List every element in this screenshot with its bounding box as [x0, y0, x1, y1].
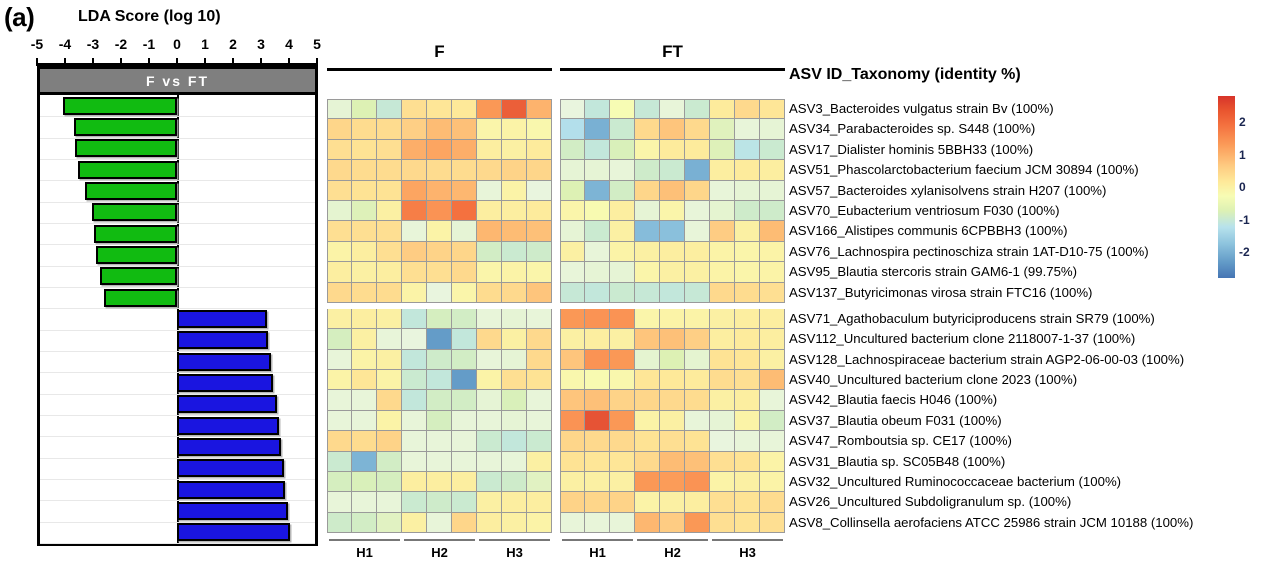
heatmap-cell [635, 492, 660, 512]
heatmap-cell [427, 119, 452, 139]
lda-bar-chart: F vs FT [37, 66, 318, 546]
heatmap-cell [610, 370, 635, 390]
lda-bar [177, 481, 285, 499]
taxonomy-item: ASV42_Blautia faecis H046 (100%) [789, 390, 1193, 410]
heatmap-cell [427, 411, 452, 431]
heatmap-group-rule [327, 68, 552, 71]
heatmap-cell [760, 283, 785, 303]
heatmap-cell [377, 262, 402, 282]
lda-axis-tick-mark [260, 58, 262, 66]
heatmap-cell [502, 221, 527, 241]
heatmap-cell [402, 472, 427, 492]
heatmap-subgroup-rule [562, 539, 633, 541]
taxonomy-item: ASV17_Dialister hominis 5BBH33 (100%) [789, 140, 1193, 160]
heatmap-cell [427, 492, 452, 512]
heatmap-cell [685, 492, 710, 512]
heatmap-cell [352, 309, 377, 329]
heatmap-cell [327, 350, 352, 370]
heatmap-cell [660, 242, 685, 262]
heatmap-cell [452, 329, 477, 349]
heatmap-cell [377, 492, 402, 512]
heatmap-cell [502, 390, 527, 410]
heatmap-subgroup-label-h1: H1 [327, 545, 402, 560]
heatmap-row [560, 492, 785, 512]
heatmap-row [560, 140, 785, 160]
heatmap-row [327, 411, 552, 431]
heatmap-cell [610, 492, 635, 512]
heatmap-cell [452, 262, 477, 282]
heatmap-cell [402, 390, 427, 410]
heatmap-cell [735, 242, 760, 262]
heatmap-row [327, 181, 552, 201]
lda-axis-tick-mark [232, 58, 234, 66]
heatmap-row [560, 431, 785, 451]
heatmap-cell [635, 221, 660, 241]
heatmap-row [327, 160, 552, 180]
heatmap-cell [585, 411, 610, 431]
heatmap-cell [760, 452, 785, 472]
heatmap-cell [560, 309, 585, 329]
lda-bar [177, 374, 273, 392]
heatmap-cell [560, 390, 585, 410]
heatmap-cell [527, 472, 552, 492]
heatmap-cell [685, 262, 710, 282]
heatmap-cell [610, 472, 635, 492]
heatmap-subgroup-rule [329, 539, 400, 541]
heatmap-cell [327, 140, 352, 160]
heatmap-cell [527, 140, 552, 160]
heatmap-row [560, 262, 785, 282]
heatmap-cell [502, 119, 527, 139]
heatmap-cell [502, 452, 527, 472]
heatmap-cell [710, 452, 735, 472]
heatmap-cell [585, 221, 610, 241]
heatmap-cell [585, 262, 610, 282]
heatmap-cell [660, 513, 685, 533]
heatmap-cell [560, 411, 585, 431]
heatmap-cell [660, 99, 685, 119]
heatmap-row [327, 242, 552, 262]
heatmap-cell [685, 242, 710, 262]
heatmap-cell [377, 431, 402, 451]
heatmap-cell [477, 513, 502, 533]
lda-axis-tick-mark [148, 58, 150, 66]
heatmap-cell [735, 221, 760, 241]
lda-bar [104, 289, 177, 307]
heatmap-cell [527, 492, 552, 512]
taxonomy-item: ASV128_Lachnospiraceae bacterium strain … [789, 350, 1193, 370]
heatmap-cell [585, 452, 610, 472]
heatmap-cell [452, 472, 477, 492]
lda-comparison-header: F vs FT [40, 69, 315, 95]
heatmap-cell [560, 119, 585, 139]
heatmap-cell [710, 309, 735, 329]
heatmap-cell [427, 431, 452, 451]
heatmap-cell [660, 411, 685, 431]
lda-axis-tick-label: 0 [173, 36, 181, 52]
heatmap-cell [452, 492, 477, 512]
heatmap-row [327, 262, 552, 282]
heatmap-subgroup-label-h1: H1 [560, 545, 635, 560]
lda-gridline [40, 202, 315, 203]
heatmap-cell [635, 283, 660, 303]
heatmap-cell [402, 350, 427, 370]
heatmap-cell [502, 283, 527, 303]
heatmap-cell [452, 119, 477, 139]
taxonomy-item: ASV26_Uncultured Subdoligranulum sp. (10… [789, 492, 1193, 512]
heatmap-cell [610, 283, 635, 303]
heatmap-cell [377, 99, 402, 119]
heatmap-cell [452, 309, 477, 329]
heatmap-cell [327, 262, 352, 282]
heatmap-cell [735, 431, 760, 451]
heatmap-cell [352, 452, 377, 472]
heatmap-cell [427, 160, 452, 180]
heatmap-cell [477, 201, 502, 221]
heatmap-cell [710, 242, 735, 262]
heatmap-cell [402, 242, 427, 262]
heatmap-cell [735, 99, 760, 119]
lda-bar [75, 139, 177, 157]
lda-bar [177, 417, 279, 435]
heatmap-cell [585, 350, 610, 370]
colorbar-tick-label: -2 [1239, 245, 1250, 259]
heatmap-cell [685, 201, 710, 221]
heatmap-cell [635, 452, 660, 472]
heatmap-cell [452, 181, 477, 201]
heatmap-cell [477, 119, 502, 139]
heatmap-cell [735, 492, 760, 512]
heatmap-cell [502, 201, 527, 221]
heatmap-row [327, 329, 552, 349]
heatmap-cell [352, 513, 377, 533]
heatmap-cell [527, 99, 552, 119]
heatmap-cell [760, 140, 785, 160]
heatmap-row [560, 242, 785, 262]
heatmap-cell [427, 242, 452, 262]
heatmap-cell [585, 390, 610, 410]
heatmap-cell [635, 242, 660, 262]
heatmap-cell [377, 472, 402, 492]
heatmap-cell [585, 309, 610, 329]
heatmap-cell [352, 140, 377, 160]
lda-axis-tick-mark [204, 58, 206, 66]
heatmap-cell [502, 472, 527, 492]
heatmap-cell [710, 350, 735, 370]
heatmap-subgroup-label-h3: H3 [477, 545, 552, 560]
heatmap-cell [635, 350, 660, 370]
heatmap-cell [327, 472, 352, 492]
lda-axis-tick-label: -1 [143, 36, 155, 52]
heatmap-cell [610, 262, 635, 282]
heatmap-row [327, 283, 552, 303]
heatmap-cell [402, 221, 427, 241]
heatmap-cell [427, 262, 452, 282]
heatmap-cell [377, 283, 402, 303]
heatmap-cell [710, 160, 735, 180]
lda-bar [177, 502, 288, 520]
heatmap-cell [502, 329, 527, 349]
lda-axis-tick-mark [36, 58, 38, 66]
heatmap-cell [402, 492, 427, 512]
heatmap-cell [710, 181, 735, 201]
heatmap-cell [685, 221, 710, 241]
heatmap-cell [760, 119, 785, 139]
heatmap-cell [560, 472, 585, 492]
heatmap-cell [327, 452, 352, 472]
taxonomy-item: ASV51_Phascolarctobacterium faecium JCM … [789, 160, 1193, 180]
heatmap-cell [477, 370, 502, 390]
heatmap-cell [502, 370, 527, 390]
heatmap-row [327, 140, 552, 160]
heatmap-cell [452, 160, 477, 180]
heatmap-cell [352, 119, 377, 139]
heatmap-cell [477, 350, 502, 370]
heatmap-cell [685, 181, 710, 201]
heatmap-cell [502, 492, 527, 512]
heatmap-row [327, 452, 552, 472]
heatmap-cell [527, 390, 552, 410]
heatmap-cell [502, 242, 527, 262]
heatmap-cell [635, 329, 660, 349]
heatmap-cell [635, 390, 660, 410]
taxonomy-item: ASV34_Parabacteroides sp. S448 (100%) [789, 119, 1193, 139]
heatmap-cell [710, 370, 735, 390]
heatmap-cell [377, 119, 402, 139]
heatmap-cell [735, 119, 760, 139]
heatmap-cell [660, 201, 685, 221]
heatmap-cell [560, 492, 585, 512]
lda-axis-tick-mark [120, 58, 122, 66]
heatmap-cell [560, 99, 585, 119]
heatmap-cell [427, 472, 452, 492]
heatmap-cell [502, 513, 527, 533]
heatmap-cell [402, 262, 427, 282]
heatmap-cell [502, 431, 527, 451]
heatmap-cell [377, 329, 402, 349]
heatmap-cell [352, 160, 377, 180]
heatmap-cell [610, 201, 635, 221]
heatmap-cell [735, 390, 760, 410]
heatmap-row [327, 119, 552, 139]
heatmap-cell [710, 472, 735, 492]
heatmap-cell [560, 283, 585, 303]
heatmap-cell [502, 350, 527, 370]
heatmap-cell [585, 431, 610, 451]
heatmap-cell [477, 492, 502, 512]
taxonomy-item: ASV37_Blautia obeum F031 (100%) [789, 411, 1193, 431]
heatmap-cell [685, 431, 710, 451]
lda-bar [96, 246, 177, 264]
heatmap-cell [352, 472, 377, 492]
heatmap-cell [760, 492, 785, 512]
colorbar-tick-label: -1 [1239, 213, 1250, 227]
heatmap-cell [635, 262, 660, 282]
heatmap-cell [610, 309, 635, 329]
heatmap-cell [660, 309, 685, 329]
heatmap-cell [660, 350, 685, 370]
heatmap-cell [635, 472, 660, 492]
heatmap-cell [352, 431, 377, 451]
heatmap-cell [610, 431, 635, 451]
heatmap-cell [527, 262, 552, 282]
heatmap-cell [610, 242, 635, 262]
heatmap-row [560, 309, 785, 329]
heatmap-row [560, 513, 785, 533]
heatmap-cell [760, 201, 785, 221]
heatmap-cell [452, 283, 477, 303]
heatmap-cell [477, 242, 502, 262]
heatmap-cell [527, 431, 552, 451]
heatmap-row [560, 283, 785, 303]
heatmap-cell [635, 513, 660, 533]
heatmap-cell [377, 513, 402, 533]
heatmap-cell [610, 411, 635, 431]
lda-gridline [40, 244, 315, 245]
heatmap-cell [327, 201, 352, 221]
heatmap-cell [735, 201, 760, 221]
lda-axis-tick-label: 1 [201, 36, 209, 52]
heatmap-cell [327, 329, 352, 349]
lda-gridline [40, 223, 315, 224]
heatmap-cell [685, 370, 710, 390]
heatmap-cell [477, 411, 502, 431]
heatmap-subgroup-label-h3: H3 [710, 545, 785, 560]
heatmap-cell [685, 390, 710, 410]
lda-axis-tick-label: -3 [87, 36, 99, 52]
heatmap-cell [377, 221, 402, 241]
heatmap-cell [685, 309, 710, 329]
heatmap-cell [710, 119, 735, 139]
heatmap-cell [560, 350, 585, 370]
heatmap-cell [452, 99, 477, 119]
heatmap-cell [560, 513, 585, 533]
heatmap-cell [527, 242, 552, 262]
heatmap-cell [710, 492, 735, 512]
heatmap-cell [427, 452, 452, 472]
lda-bar [177, 523, 290, 541]
heatmap-row [327, 492, 552, 512]
taxonomy-item: ASV70_Eubacterium ventriosum F030 (100%) [789, 201, 1193, 221]
heatmap-group-header-ft: FT [560, 42, 785, 62]
heatmap-subgroup-rule [712, 539, 783, 541]
heatmap-cell [377, 242, 402, 262]
heatmap-cell [760, 160, 785, 180]
heatmap-cell [527, 329, 552, 349]
heatmap-cell [452, 201, 477, 221]
heatmap-cell [427, 201, 452, 221]
heatmap-cell [585, 283, 610, 303]
heatmap-cell [585, 370, 610, 390]
heatmap-cell [635, 160, 660, 180]
heatmap-cell [402, 411, 427, 431]
lda-comparison-label: F vs FT [146, 73, 209, 89]
heatmap-cell [635, 309, 660, 329]
heatmap-cell [735, 160, 760, 180]
heatmap-cell [660, 283, 685, 303]
heatmap-cell [402, 119, 427, 139]
heatmap-cell [710, 140, 735, 160]
heatmap-cell [327, 119, 352, 139]
heatmap-cell [327, 513, 352, 533]
lda-axis-tick-mark [64, 58, 66, 66]
heatmap-cell [760, 431, 785, 451]
heatmap-cell [477, 329, 502, 349]
heatmap-cell [635, 411, 660, 431]
heatmap-cell [527, 452, 552, 472]
heatmap-cell [585, 119, 610, 139]
heatmap-cell [477, 181, 502, 201]
heatmap-cell [427, 370, 452, 390]
lda-axis: -5-4-3-2-1012345 [37, 36, 317, 66]
heatmap-cell [585, 492, 610, 512]
heatmap-cell [760, 370, 785, 390]
heatmap-cell [660, 160, 685, 180]
heatmap-cell [660, 262, 685, 282]
heatmap-cell [735, 370, 760, 390]
heatmap-cell [527, 309, 552, 329]
lda-bar [85, 182, 177, 200]
heatmap-cell [735, 452, 760, 472]
heatmap-cell [635, 140, 660, 160]
heatmap-cell [585, 140, 610, 160]
heatmap-cell [610, 181, 635, 201]
heatmap-subgroup-rule [637, 539, 708, 541]
heatmap-cell [352, 221, 377, 241]
heatmap-cell [660, 390, 685, 410]
heatmap-cell [635, 201, 660, 221]
heatmap-cell [452, 242, 477, 262]
heatmap-cell [560, 262, 585, 282]
lda-bar [92, 203, 177, 221]
heatmap-cell [660, 370, 685, 390]
heatmap-cell [352, 201, 377, 221]
heatmap-cell [352, 370, 377, 390]
heatmap-cell [760, 262, 785, 282]
heatmap-cell [377, 181, 402, 201]
heatmap-cell [477, 283, 502, 303]
heatmap-cell [685, 411, 710, 431]
heatmap-cell [760, 329, 785, 349]
heatmap-cell [477, 452, 502, 472]
heatmap-cell [402, 431, 427, 451]
heatmap-cell [585, 472, 610, 492]
heatmap-cell [560, 221, 585, 241]
heatmap-cell [352, 350, 377, 370]
heatmap-cell [760, 472, 785, 492]
heatmap-cell [327, 242, 352, 262]
heatmap-cell [377, 390, 402, 410]
heatmap-row [327, 513, 552, 533]
colorbar-tick-label: 2 [1239, 115, 1246, 129]
heatmap-cell [685, 283, 710, 303]
taxonomy-header: ASV ID_Taxonomy (identity %) [789, 66, 1021, 84]
heatmap-cell [377, 309, 402, 329]
lda-axis-tick-label: 3 [257, 36, 265, 52]
heatmap-cell [710, 390, 735, 410]
heatmap-cell [585, 181, 610, 201]
heatmap-cell [452, 452, 477, 472]
heatmap-cell [610, 99, 635, 119]
heatmap-cell [585, 242, 610, 262]
heatmap-row [560, 329, 785, 349]
heatmap-cell [585, 99, 610, 119]
heatmap-row [560, 160, 785, 180]
panel-letter: (a) [4, 2, 34, 33]
heatmap-cell [477, 309, 502, 329]
heatmap-cell [710, 411, 735, 431]
heatmap-cell [635, 370, 660, 390]
